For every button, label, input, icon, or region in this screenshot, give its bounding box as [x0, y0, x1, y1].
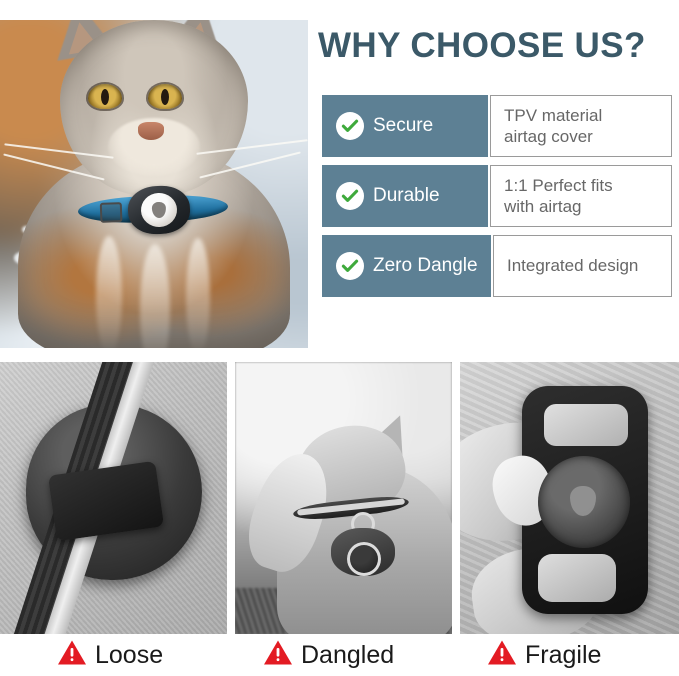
- feature-label-cell: Zero Dangle: [322, 235, 491, 297]
- cat-pupil: [161, 89, 169, 105]
- feature-row: Secure TPV material airtag cover: [322, 95, 672, 157]
- airtag-logo-icon: [152, 202, 167, 219]
- page-title: WHY CHOOSE US?: [318, 26, 674, 66]
- fur-streak: [96, 236, 122, 348]
- feature-detail-line: TPV material: [504, 105, 602, 126]
- check-circle-icon: [336, 112, 364, 140]
- caption-fragile: Fragile: [487, 638, 601, 672]
- comparison-photo-dangled: [235, 362, 452, 634]
- feature-detail-cell: TPV material airtag cover: [490, 95, 672, 157]
- feature-detail-cell: 1:1 Perfect fits with airtag: [490, 165, 672, 227]
- cat-pupil: [101, 89, 109, 105]
- holder-slot-top: [544, 404, 628, 446]
- warning-triangle-icon: [263, 639, 293, 671]
- comparison-photo-loose: [0, 362, 227, 634]
- feature-table: Secure TPV material airtag cover Durable…: [322, 95, 672, 305]
- check-circle-icon: [336, 182, 364, 210]
- warning-triangle-icon: [487, 639, 517, 671]
- hero-product-photo: [0, 20, 308, 348]
- comparison-image-row: [0, 362, 679, 634]
- feature-detail-line: airtag cover: [504, 126, 602, 147]
- comparison-photo-fragile: [460, 362, 679, 634]
- cat-illustration: [0, 20, 308, 348]
- warning-triangle-icon: [57, 639, 87, 671]
- feature-label: Zero Dangle: [373, 255, 478, 277]
- caption-text: Loose: [95, 641, 163, 670]
- feature-label: Secure: [373, 115, 433, 137]
- feature-detail-line: 1:1 Perfect fits: [504, 175, 613, 196]
- caption-dangled: Dangled: [263, 638, 394, 672]
- check-circle-icon: [336, 252, 364, 280]
- feature-label-cell: Durable: [322, 165, 488, 227]
- comparison-captions: Loose Dangled Fragile: [0, 638, 679, 676]
- feature-detail-line: Integrated design: [507, 255, 638, 276]
- airtag-disc-icon: [140, 192, 178, 228]
- holder-slot-bottom: [538, 554, 616, 602]
- feature-detail-line: with airtag: [504, 196, 613, 217]
- feature-row: Zero Dangle Integrated design: [322, 235, 672, 297]
- hero-frame: [0, 20, 308, 348]
- airtag-disc-icon: [347, 542, 381, 576]
- caption-text: Dangled: [301, 641, 394, 670]
- feature-detail-cell: Integrated design: [493, 235, 672, 297]
- cat-nose: [138, 122, 164, 140]
- feature-label: Durable: [373, 185, 440, 207]
- collar-buckle-icon: [100, 202, 123, 223]
- cat-eye-left: [88, 84, 122, 109]
- fur-streak: [186, 238, 210, 348]
- cat-eye-right: [148, 84, 182, 109]
- caption-loose: Loose: [57, 638, 163, 672]
- feature-label-cell: Secure: [322, 95, 488, 157]
- caption-text: Fragile: [525, 641, 601, 670]
- feature-row: Durable 1:1 Perfect fits with airtag: [322, 165, 672, 227]
